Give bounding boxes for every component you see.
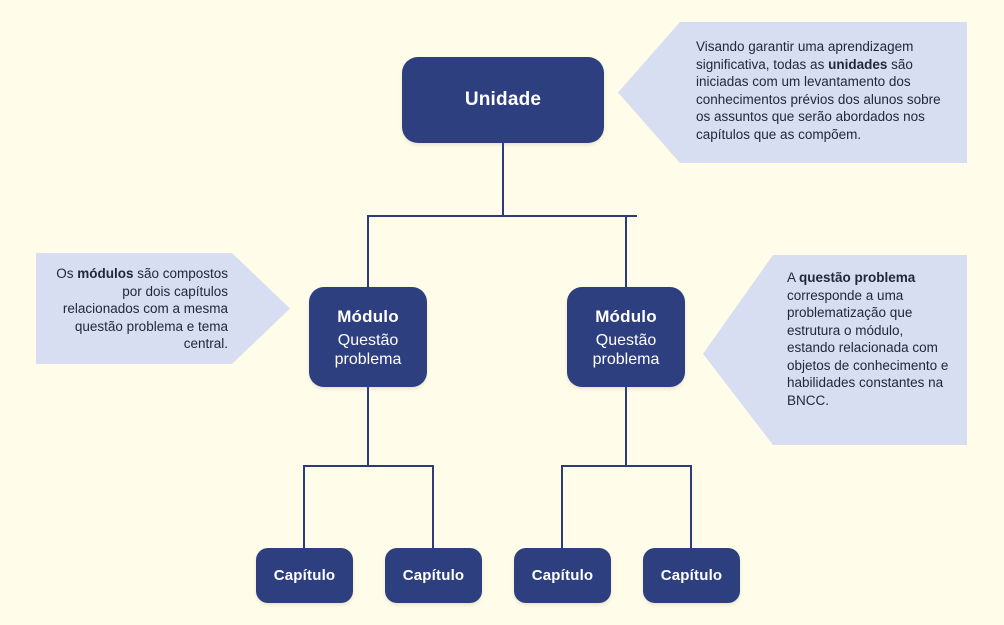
connector-modulo-bus [367, 215, 637, 217]
connector-to-modulo-1 [367, 215, 369, 288]
node-unidade[interactable]: Unidade [402, 57, 604, 143]
connector-capitulo-bus-left [303, 465, 433, 467]
node-capitulo-1-title: Capítulo [274, 567, 336, 584]
node-modulo-1-subtitle: Questão problema [309, 332, 427, 370]
node-modulo-1[interactable]: Módulo Questão problema [309, 287, 427, 387]
node-modulo-2-title: Módulo [595, 307, 657, 327]
connector-unidade-down [502, 143, 504, 216]
callout-questao-note-text: A questão problema corresponde a uma pro… [787, 269, 953, 409]
connector-modulo-1-down [367, 387, 369, 466]
node-capitulo-3-title: Capítulo [532, 567, 594, 584]
node-capitulo-2-title: Capítulo [403, 567, 465, 584]
connector-modulo-2-down [625, 387, 627, 466]
node-unidade-title: Unidade [465, 89, 541, 111]
node-capitulo-1[interactable]: Capítulo [256, 548, 353, 603]
node-capitulo-4-title: Capítulo [661, 567, 723, 584]
connector-capitulo-bus-right [561, 465, 691, 467]
node-modulo-2[interactable]: Módulo Questão problema [567, 287, 685, 387]
callout-modulo-note: Os módulos são compostos por dois capítu… [36, 253, 290, 364]
connector-to-modulo-2 [625, 215, 627, 288]
callout-unidade-note: Visando garantir uma aprendizagem signif… [618, 22, 967, 163]
node-capitulo-3[interactable]: Capítulo [514, 548, 611, 603]
connector-to-capitulo-4 [690, 465, 692, 549]
callout-unidade-note-text: Visando garantir uma aprendizagem signif… [696, 38, 951, 143]
node-capitulo-2[interactable]: Capítulo [385, 548, 482, 603]
connector-to-capitulo-1 [303, 465, 305, 549]
callout-questao-note: A questão problema corresponde a uma pro… [703, 255, 967, 445]
connector-to-capitulo-2 [432, 465, 434, 549]
node-capitulo-4[interactable]: Capítulo [643, 548, 740, 603]
callout-modulo-note-text: Os módulos são compostos por dois capítu… [48, 265, 228, 353]
connector-to-capitulo-3 [561, 465, 563, 549]
node-modulo-1-title: Módulo [337, 307, 399, 327]
node-modulo-2-subtitle: Questão problema [567, 332, 685, 370]
diagram-canvas: Unidade Módulo Questão problema Módulo Q… [0, 0, 1004, 625]
